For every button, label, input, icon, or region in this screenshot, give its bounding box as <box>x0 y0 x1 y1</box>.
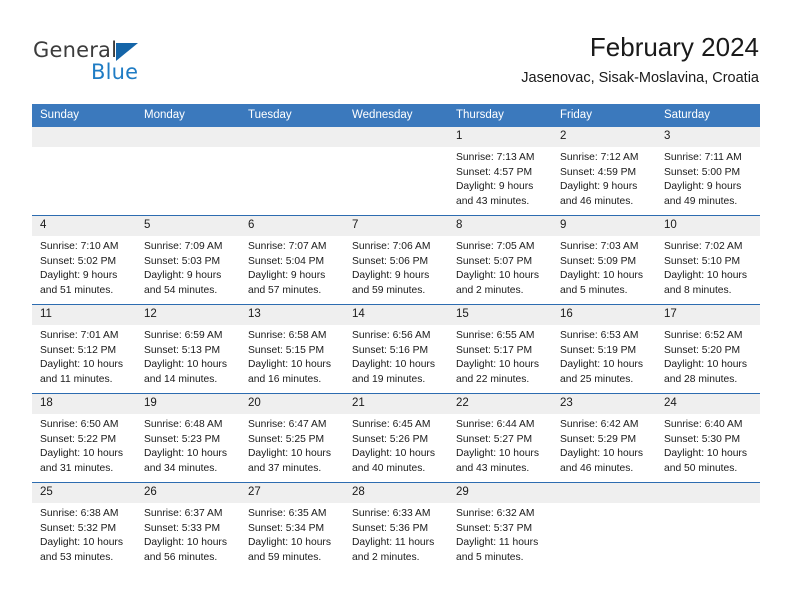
day-daylight-1-text: Daylight: 10 hours <box>456 447 547 462</box>
day-number: 6 <box>240 216 344 236</box>
day-daylight-2-text: and 59 minutes. <box>352 284 443 299</box>
calendar-day-cell[interactable]: 10Sunrise: 7:02 AMSunset: 5:10 PMDayligh… <box>656 216 760 305</box>
day-details: Sunrise: 6:35 AMSunset: 5:34 PMDaylight:… <box>240 503 344 565</box>
day-daylight-1-text: Daylight: 10 hours <box>352 358 443 373</box>
day-details: Sunrise: 7:12 AMSunset: 4:59 PMDaylight:… <box>552 147 656 209</box>
calendar-week-row: 1Sunrise: 7:13 AMSunset: 4:57 PMDaylight… <box>32 127 760 216</box>
day-details: Sunrise: 6:38 AMSunset: 5:32 PMDaylight:… <box>32 503 136 565</box>
day-daylight-2-text: and 28 minutes. <box>664 373 755 388</box>
day-sunset-text: Sunset: 5:27 PM <box>456 433 547 448</box>
day-daylight-1-text: Daylight: 10 hours <box>560 447 651 462</box>
day-details: Sunrise: 6:53 AMSunset: 5:19 PMDaylight:… <box>552 325 656 387</box>
day-sunset-text: Sunset: 5:30 PM <box>664 433 755 448</box>
day-details <box>552 503 656 507</box>
calendar-day-cell[interactable]: 22Sunrise: 6:44 AMSunset: 5:27 PMDayligh… <box>448 394 552 483</box>
day-sunset-text: Sunset: 5:19 PM <box>560 344 651 359</box>
calendar-day-cell[interactable]: 27Sunrise: 6:35 AMSunset: 5:34 PMDayligh… <box>240 483 344 572</box>
day-daylight-2-text: and 57 minutes. <box>248 284 339 299</box>
day-sunset-text: Sunset: 5:36 PM <box>352 522 443 537</box>
day-sunset-text: Sunset: 5:07 PM <box>456 255 547 270</box>
day-details <box>136 147 240 151</box>
day-sunrise-text: Sunrise: 6:38 AM <box>40 507 131 522</box>
day-details: Sunrise: 7:11 AMSunset: 5:00 PMDaylight:… <box>656 147 760 209</box>
day-daylight-1-text: Daylight: 10 hours <box>248 536 339 551</box>
day-details: Sunrise: 6:52 AMSunset: 5:20 PMDaylight:… <box>656 325 760 387</box>
day-sunrise-text: Sunrise: 6:42 AM <box>560 418 651 433</box>
calendar-day-cell[interactable]: 23Sunrise: 6:42 AMSunset: 5:29 PMDayligh… <box>552 394 656 483</box>
day-daylight-2-text: and 5 minutes. <box>456 551 547 566</box>
page-header: General Blue February 2024 Jasenovac, Si… <box>0 0 792 104</box>
day-daylight-1-text: Daylight: 10 hours <box>40 358 131 373</box>
calendar-day-cell[interactable]: 29Sunrise: 6:32 AMSunset: 5:37 PMDayligh… <box>448 483 552 572</box>
day-number <box>344 127 448 147</box>
day-daylight-1-text: Daylight: 9 hours <box>352 269 443 284</box>
day-details: Sunrise: 6:45 AMSunset: 5:26 PMDaylight:… <box>344 414 448 476</box>
day-daylight-1-text: Daylight: 9 hours <box>456 180 547 195</box>
weekday-header-wednesday: Wednesday <box>344 104 448 127</box>
day-sunset-text: Sunset: 5:13 PM <box>144 344 235 359</box>
day-daylight-1-text: Daylight: 11 hours <box>352 536 443 551</box>
day-number: 22 <box>448 394 552 414</box>
day-daylight-2-text: and 22 minutes. <box>456 373 547 388</box>
day-daylight-2-text: and 16 minutes. <box>248 373 339 388</box>
day-sunrise-text: Sunrise: 7:09 AM <box>144 240 235 255</box>
day-daylight-2-text: and 25 minutes. <box>560 373 651 388</box>
day-number: 23 <box>552 394 656 414</box>
day-details: Sunrise: 6:50 AMSunset: 5:22 PMDaylight:… <box>32 414 136 476</box>
day-number: 28 <box>344 483 448 503</box>
weekday-header-monday: Monday <box>136 104 240 127</box>
day-number: 1 <box>448 127 552 147</box>
day-daylight-2-text: and 34 minutes. <box>144 462 235 477</box>
day-number: 14 <box>344 305 448 325</box>
calendar-day-cell[interactable]: 13Sunrise: 6:58 AMSunset: 5:15 PMDayligh… <box>240 305 344 394</box>
day-sunset-text: Sunset: 5:20 PM <box>664 344 755 359</box>
day-daylight-2-text: and 37 minutes. <box>248 462 339 477</box>
day-details: Sunrise: 7:07 AMSunset: 5:04 PMDaylight:… <box>240 236 344 298</box>
day-details: Sunrise: 7:10 AMSunset: 5:02 PMDaylight:… <box>32 236 136 298</box>
calendar-day-cell-empty <box>552 483 656 572</box>
day-number: 18 <box>32 394 136 414</box>
day-sunset-text: Sunset: 5:26 PM <box>352 433 443 448</box>
day-number: 8 <box>448 216 552 236</box>
calendar-day-cell[interactable]: 25Sunrise: 6:38 AMSunset: 5:32 PMDayligh… <box>32 483 136 572</box>
calendar-day-cell[interactable]: 17Sunrise: 6:52 AMSunset: 5:20 PMDayligh… <box>656 305 760 394</box>
weekday-header-sunday: Sunday <box>32 104 136 127</box>
day-number: 19 <box>136 394 240 414</box>
day-daylight-1-text: Daylight: 10 hours <box>144 358 235 373</box>
calendar-day-cell[interactable]: 11Sunrise: 7:01 AMSunset: 5:12 PMDayligh… <box>32 305 136 394</box>
day-number: 24 <box>656 394 760 414</box>
day-details: Sunrise: 7:09 AMSunset: 5:03 PMDaylight:… <box>136 236 240 298</box>
day-sunrise-text: Sunrise: 6:59 AM <box>144 329 235 344</box>
day-sunset-text: Sunset: 5:32 PM <box>40 522 131 537</box>
day-sunrise-text: Sunrise: 6:35 AM <box>248 507 339 522</box>
day-details: Sunrise: 6:55 AMSunset: 5:17 PMDaylight:… <box>448 325 552 387</box>
day-daylight-2-text: and 31 minutes. <box>40 462 131 477</box>
weekday-header-tuesday: Tuesday <box>240 104 344 127</box>
day-daylight-2-text: and 14 minutes. <box>144 373 235 388</box>
calendar-day-cell-empty <box>240 127 344 216</box>
day-daylight-1-text: Daylight: 10 hours <box>560 358 651 373</box>
calendar-day-cell[interactable]: 1Sunrise: 7:13 AMSunset: 4:57 PMDaylight… <box>448 127 552 216</box>
day-sunrise-text: Sunrise: 6:53 AM <box>560 329 651 344</box>
day-details <box>344 147 448 151</box>
calendar-day-cell-empty <box>344 127 448 216</box>
calendar-day-cell[interactable]: 18Sunrise: 6:50 AMSunset: 5:22 PMDayligh… <box>32 394 136 483</box>
day-daylight-1-text: Daylight: 10 hours <box>456 269 547 284</box>
calendar-day-cell[interactable]: 12Sunrise: 6:59 AMSunset: 5:13 PMDayligh… <box>136 305 240 394</box>
day-sunset-text: Sunset: 5:09 PM <box>560 255 651 270</box>
day-number: 21 <box>344 394 448 414</box>
day-sunset-text: Sunset: 4:59 PM <box>560 166 651 181</box>
calendar-day-cell[interactable]: 6Sunrise: 7:07 AMSunset: 5:04 PMDaylight… <box>240 216 344 305</box>
day-daylight-2-text: and 54 minutes. <box>144 284 235 299</box>
calendar-day-cell-empty <box>32 127 136 216</box>
calendar-week-row: 11Sunrise: 7:01 AMSunset: 5:12 PMDayligh… <box>32 305 760 394</box>
weekday-header-saturday: Saturday <box>656 104 760 127</box>
day-details <box>656 503 760 507</box>
day-daylight-2-text: and 46 minutes. <box>560 462 651 477</box>
day-sunset-text: Sunset: 5:33 PM <box>144 522 235 537</box>
calendar-week-row: 18Sunrise: 6:50 AMSunset: 5:22 PMDayligh… <box>32 394 760 483</box>
day-daylight-2-text: and 2 minutes. <box>352 551 443 566</box>
day-details <box>240 147 344 151</box>
day-number: 15 <box>448 305 552 325</box>
day-number: 26 <box>136 483 240 503</box>
day-sunset-text: Sunset: 5:37 PM <box>456 522 547 537</box>
day-number <box>656 483 760 503</box>
day-sunset-text: Sunset: 5:25 PM <box>248 433 339 448</box>
day-number: 27 <box>240 483 344 503</box>
day-daylight-2-text: and 40 minutes. <box>352 462 443 477</box>
calendar-day-cell[interactable]: 7Sunrise: 7:06 AMSunset: 5:06 PMDaylight… <box>344 216 448 305</box>
day-daylight-1-text: Daylight: 10 hours <box>40 536 131 551</box>
day-sunset-text: Sunset: 5:17 PM <box>456 344 547 359</box>
day-daylight-1-text: Daylight: 10 hours <box>248 447 339 462</box>
day-details: Sunrise: 6:32 AMSunset: 5:37 PMDaylight:… <box>448 503 552 565</box>
day-sunset-text: Sunset: 5:00 PM <box>664 166 755 181</box>
day-sunset-text: Sunset: 5:34 PM <box>248 522 339 537</box>
day-daylight-1-text: Daylight: 10 hours <box>144 536 235 551</box>
calendar-day-cell-empty <box>136 127 240 216</box>
day-sunset-text: Sunset: 5:04 PM <box>248 255 339 270</box>
day-number: 20 <box>240 394 344 414</box>
day-daylight-2-text: and 43 minutes. <box>456 462 547 477</box>
day-number: 3 <box>656 127 760 147</box>
day-sunrise-text: Sunrise: 6:44 AM <box>456 418 547 433</box>
day-number <box>32 127 136 147</box>
day-details: Sunrise: 6:47 AMSunset: 5:25 PMDaylight:… <box>240 414 344 476</box>
calendar-day-cell[interactable]: 2Sunrise: 7:12 AMSunset: 4:59 PMDaylight… <box>552 127 656 216</box>
day-daylight-1-text: Daylight: 10 hours <box>40 447 131 462</box>
calendar-body: 1Sunrise: 7:13 AMSunset: 4:57 PMDaylight… <box>32 127 760 571</box>
day-sunset-text: Sunset: 5:22 PM <box>40 433 131 448</box>
calendar-day-cell[interactable]: 4Sunrise: 7:10 AMSunset: 5:02 PMDaylight… <box>32 216 136 305</box>
day-details: Sunrise: 6:44 AMSunset: 5:27 PMDaylight:… <box>448 414 552 476</box>
calendar-day-cell[interactable]: 24Sunrise: 6:40 AMSunset: 5:30 PMDayligh… <box>656 394 760 483</box>
day-sunset-text: Sunset: 4:57 PM <box>456 166 547 181</box>
day-details: Sunrise: 7:01 AMSunset: 5:12 PMDaylight:… <box>32 325 136 387</box>
day-details: Sunrise: 6:37 AMSunset: 5:33 PMDaylight:… <box>136 503 240 565</box>
day-number: 2 <box>552 127 656 147</box>
day-sunset-text: Sunset: 5:10 PM <box>664 255 755 270</box>
day-number: 11 <box>32 305 136 325</box>
day-daylight-1-text: Daylight: 10 hours <box>352 447 443 462</box>
day-details: Sunrise: 7:03 AMSunset: 5:09 PMDaylight:… <box>552 236 656 298</box>
day-sunrise-text: Sunrise: 7:10 AM <box>40 240 131 255</box>
day-number: 9 <box>552 216 656 236</box>
day-daylight-1-text: Daylight: 10 hours <box>664 358 755 373</box>
calendar-day-cell[interactable]: 9Sunrise: 7:03 AMSunset: 5:09 PMDaylight… <box>552 216 656 305</box>
calendar-grid: Sunday Monday Tuesday Wednesday Thursday… <box>32 104 760 571</box>
calendar-day-cell[interactable]: 16Sunrise: 6:53 AMSunset: 5:19 PMDayligh… <box>552 305 656 394</box>
day-daylight-1-text: Daylight: 10 hours <box>144 447 235 462</box>
day-number: 10 <box>656 216 760 236</box>
day-sunrise-text: Sunrise: 6:37 AM <box>144 507 235 522</box>
day-details: Sunrise: 7:13 AMSunset: 4:57 PMDaylight:… <box>448 147 552 209</box>
day-number: 16 <box>552 305 656 325</box>
day-sunset-text: Sunset: 5:02 PM <box>40 255 131 270</box>
day-daylight-2-text: and 51 minutes. <box>40 284 131 299</box>
calendar-day-cell[interactable]: 28Sunrise: 6:33 AMSunset: 5:36 PMDayligh… <box>344 483 448 572</box>
day-sunrise-text: Sunrise: 6:56 AM <box>352 329 443 344</box>
day-sunset-text: Sunset: 5:12 PM <box>40 344 131 359</box>
day-daylight-1-text: Daylight: 9 hours <box>664 180 755 195</box>
page-subtitle: Jasenovac, Sisak-Moslavina, Croatia <box>521 68 759 88</box>
title-block: February 2024 Jasenovac, Sisak-Moslavina… <box>521 32 759 88</box>
day-daylight-1-text: Daylight: 10 hours <box>248 358 339 373</box>
day-sunrise-text: Sunrise: 7:05 AM <box>456 240 547 255</box>
day-details: Sunrise: 6:56 AMSunset: 5:16 PMDaylight:… <box>344 325 448 387</box>
logo-triangle-icon <box>116 43 138 61</box>
day-number: 25 <box>32 483 136 503</box>
calendar-day-cell[interactable]: 5Sunrise: 7:09 AMSunset: 5:03 PMDaylight… <box>136 216 240 305</box>
day-sunrise-text: Sunrise: 7:11 AM <box>664 151 755 166</box>
day-sunrise-text: Sunrise: 6:32 AM <box>456 507 547 522</box>
day-daylight-2-text: and 19 minutes. <box>352 373 443 388</box>
day-sunrise-text: Sunrise: 6:33 AM <box>352 507 443 522</box>
day-number: 29 <box>448 483 552 503</box>
calendar-week-row: 25Sunrise: 6:38 AMSunset: 5:32 PMDayligh… <box>32 483 760 572</box>
day-number <box>552 483 656 503</box>
day-sunrise-text: Sunrise: 7:01 AM <box>40 329 131 344</box>
day-sunrise-text: Sunrise: 7:03 AM <box>560 240 651 255</box>
day-sunset-text: Sunset: 5:16 PM <box>352 344 443 359</box>
day-details: Sunrise: 6:58 AMSunset: 5:15 PMDaylight:… <box>240 325 344 387</box>
day-details: Sunrise: 6:48 AMSunset: 5:23 PMDaylight:… <box>136 414 240 476</box>
day-sunset-text: Sunset: 5:03 PM <box>144 255 235 270</box>
weekday-header-thursday: Thursday <box>448 104 552 127</box>
day-number <box>136 127 240 147</box>
day-details: Sunrise: 6:42 AMSunset: 5:29 PMDaylight:… <box>552 414 656 476</box>
day-details <box>32 147 136 151</box>
day-daylight-1-text: Daylight: 9 hours <box>40 269 131 284</box>
day-sunrise-text: Sunrise: 6:52 AM <box>664 329 755 344</box>
day-daylight-1-text: Daylight: 9 hours <box>560 180 651 195</box>
day-daylight-2-text: and 46 minutes. <box>560 195 651 210</box>
calendar-day-cell[interactable]: 3Sunrise: 7:11 AMSunset: 5:00 PMDaylight… <box>656 127 760 216</box>
general-blue-logo[interactable]: General Blue <box>33 38 243 88</box>
day-daylight-1-text: Daylight: 10 hours <box>664 447 755 462</box>
day-daylight-2-text: and 5 minutes. <box>560 284 651 299</box>
calendar-week-row: 4Sunrise: 7:10 AMSunset: 5:02 PMDaylight… <box>32 216 760 305</box>
day-daylight-2-text: and 53 minutes. <box>40 551 131 566</box>
day-daylight-1-text: Daylight: 11 hours <box>456 536 547 551</box>
day-sunrise-text: Sunrise: 6:45 AM <box>352 418 443 433</box>
day-sunrise-text: Sunrise: 6:58 AM <box>248 329 339 344</box>
day-sunrise-text: Sunrise: 7:12 AM <box>560 151 651 166</box>
weekday-header-row: Sunday Monday Tuesday Wednesday Thursday… <box>32 104 760 127</box>
calendar-page: General Blue February 2024 Jasenovac, Si… <box>0 0 792 612</box>
day-sunrise-text: Sunrise: 6:48 AM <box>144 418 235 433</box>
day-number: 5 <box>136 216 240 236</box>
day-daylight-1-text: Daylight: 9 hours <box>144 269 235 284</box>
day-daylight-1-text: Daylight: 10 hours <box>560 269 651 284</box>
day-sunrise-text: Sunrise: 6:55 AM <box>456 329 547 344</box>
day-daylight-2-text: and 43 minutes. <box>456 195 547 210</box>
day-daylight-2-text: and 2 minutes. <box>456 284 547 299</box>
day-sunset-text: Sunset: 5:15 PM <box>248 344 339 359</box>
day-daylight-2-text: and 50 minutes. <box>664 462 755 477</box>
day-sunset-text: Sunset: 5:29 PM <box>560 433 651 448</box>
day-details: Sunrise: 7:05 AMSunset: 5:07 PMDaylight:… <box>448 236 552 298</box>
calendar-day-cell[interactable]: 26Sunrise: 6:37 AMSunset: 5:33 PMDayligh… <box>136 483 240 572</box>
day-number: 13 <box>240 305 344 325</box>
calendar-day-cell[interactable]: 15Sunrise: 6:55 AMSunset: 5:17 PMDayligh… <box>448 305 552 394</box>
calendar-day-cell[interactable]: 8Sunrise: 7:05 AMSunset: 5:07 PMDaylight… <box>448 216 552 305</box>
day-number: 7 <box>344 216 448 236</box>
day-daylight-2-text: and 49 minutes. <box>664 195 755 210</box>
day-sunrise-text: Sunrise: 7:06 AM <box>352 240 443 255</box>
day-sunset-text: Sunset: 5:23 PM <box>144 433 235 448</box>
day-daylight-2-text: and 59 minutes. <box>248 551 339 566</box>
day-number: 4 <box>32 216 136 236</box>
day-details: Sunrise: 6:33 AMSunset: 5:36 PMDaylight:… <box>344 503 448 565</box>
day-daylight-1-text: Daylight: 9 hours <box>248 269 339 284</box>
calendar-day-cell[interactable]: 19Sunrise: 6:48 AMSunset: 5:23 PMDayligh… <box>136 394 240 483</box>
day-daylight-2-text: and 8 minutes. <box>664 284 755 299</box>
day-sunrise-text: Sunrise: 6:40 AM <box>664 418 755 433</box>
day-daylight-1-text: Daylight: 10 hours <box>456 358 547 373</box>
day-daylight-1-text: Daylight: 10 hours <box>664 269 755 284</box>
logo-text-general: General <box>33 38 117 62</box>
day-sunrise-text: Sunrise: 7:02 AM <box>664 240 755 255</box>
day-sunrise-text: Sunrise: 7:07 AM <box>248 240 339 255</box>
calendar-day-cell[interactable]: 20Sunrise: 6:47 AMSunset: 5:25 PMDayligh… <box>240 394 344 483</box>
day-sunset-text: Sunset: 5:06 PM <box>352 255 443 270</box>
day-number <box>240 127 344 147</box>
day-details: Sunrise: 7:06 AMSunset: 5:06 PMDaylight:… <box>344 236 448 298</box>
calendar-day-cell[interactable]: 14Sunrise: 6:56 AMSunset: 5:16 PMDayligh… <box>344 305 448 394</box>
page-title: February 2024 <box>521 32 759 62</box>
day-sunrise-text: Sunrise: 7:13 AM <box>456 151 547 166</box>
weekday-header-friday: Friday <box>552 104 656 127</box>
day-details: Sunrise: 7:02 AMSunset: 5:10 PMDaylight:… <box>656 236 760 298</box>
logo-text-blue: Blue <box>91 60 138 84</box>
day-details: Sunrise: 6:59 AMSunset: 5:13 PMDaylight:… <box>136 325 240 387</box>
day-sunrise-text: Sunrise: 6:47 AM <box>248 418 339 433</box>
calendar-day-cell-empty <box>656 483 760 572</box>
day-sunrise-text: Sunrise: 6:50 AM <box>40 418 131 433</box>
day-details: Sunrise: 6:40 AMSunset: 5:30 PMDaylight:… <box>656 414 760 476</box>
day-daylight-2-text: and 56 minutes. <box>144 551 235 566</box>
day-number: 17 <box>656 305 760 325</box>
day-number: 12 <box>136 305 240 325</box>
day-daylight-2-text: and 11 minutes. <box>40 373 131 388</box>
calendar-day-cell[interactable]: 21Sunrise: 6:45 AMSunset: 5:26 PMDayligh… <box>344 394 448 483</box>
